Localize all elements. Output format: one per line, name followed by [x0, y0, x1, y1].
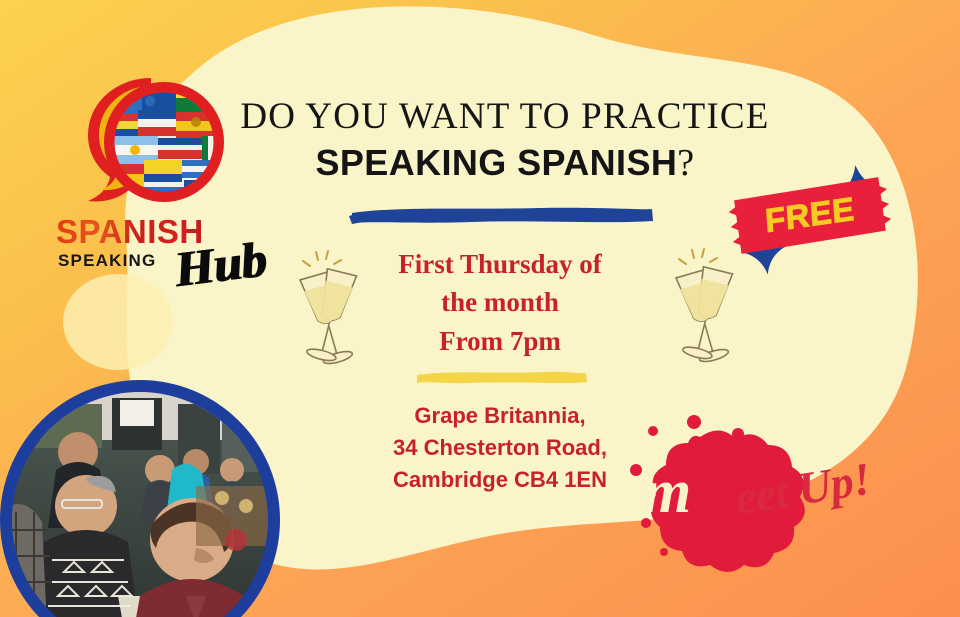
rule-yellow — [417, 372, 587, 383]
schedule-line-1: First Thursday of — [340, 245, 660, 283]
headline-question-mark: ? — [677, 142, 694, 184]
rule-blue — [352, 208, 653, 223]
schedule-line-2: the month — [340, 283, 660, 321]
meetup-letter-m: m — [643, 457, 691, 528]
poster-canvas: DO YOU WANT TO PRACTICE SPEAKING SPANISH… — [0, 0, 960, 617]
brand-wordmark: SPANISH SPEAKING Hub — [56, 213, 271, 293]
venue-line-2: 34 Chesterton Road, — [355, 432, 645, 464]
wordmark-hub: Hub — [171, 230, 269, 299]
wordmark-speaking: SPEAKING — [58, 251, 156, 271]
venue-address: Grape Britannia, 34 Chesterton Road, Cam… — [355, 400, 645, 496]
headline-line-2-text: SPEAKING SPANISH — [315, 142, 677, 183]
headline-line-2: SPEAKING SPANISH? — [205, 142, 805, 185]
schedule-text: First Thursday of the month From 7pm — [340, 245, 660, 360]
schedule-line-3: From 7pm — [340, 322, 660, 360]
venue-line-1: Grape Britannia, — [355, 400, 645, 432]
venue-line-3: Cambridge CB4 1EN — [355, 464, 645, 496]
page-title: DO YOU WANT TO PRACTICE SPEAKING SPANISH… — [205, 96, 805, 185]
headline-line-1: DO YOU WANT TO PRACTICE — [205, 96, 805, 137]
